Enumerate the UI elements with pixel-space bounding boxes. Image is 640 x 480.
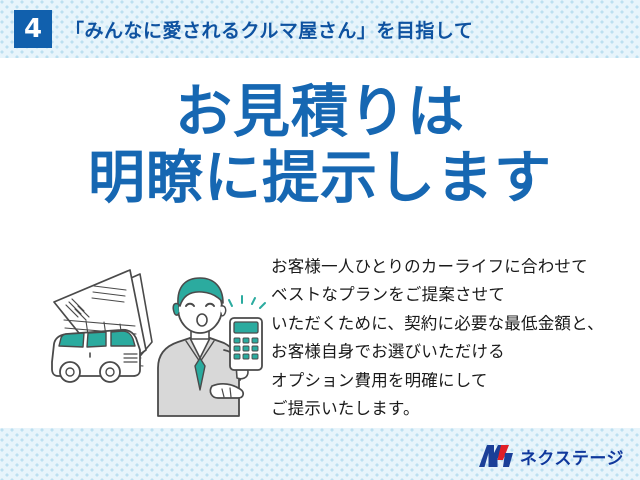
body-line: ベストなプランをご提案させて	[271, 281, 631, 309]
body-line: オプション費用を明確にして	[271, 367, 631, 395]
body-line: いただくために、契約に必要な最低金額と、	[271, 310, 631, 338]
salesman-illustration	[34, 258, 270, 418]
illustration-svg	[34, 258, 270, 418]
headline-line-2: 明瞭に提示します	[0, 148, 640, 208]
calculator-icon	[230, 318, 262, 370]
promo-slide: 4 「みんなに愛されるクルマ屋さん」を目指して お見積りは 明瞭に提示します お…	[0, 0, 640, 480]
sparkle-icon	[229, 296, 265, 308]
van-illustration	[52, 330, 140, 382]
headline: お見積りは 明瞭に提示します	[0, 82, 640, 209]
step-number-badge: 4	[14, 10, 52, 48]
nextage-logo-text: ネクステージ	[520, 444, 624, 469]
body-line: ご提示いたします。	[271, 395, 631, 423]
body-line: お客様自身でお選びいただける	[271, 338, 631, 366]
headline-line-1: お見積りは	[0, 82, 640, 142]
nextage-logo: ネクステージ	[479, 443, 624, 469]
body-copy: お客様一人ひとりのカーライフに合わせて ベストなプランをご提案させて いただくた…	[271, 253, 631, 423]
header: 4 「みんなに愛されるクルマ屋さん」を目指して	[0, 0, 640, 58]
nextage-n-logo-icon	[479, 444, 513, 468]
header-title: 「みんなに愛されるクルマ屋さん」を目指して	[65, 16, 473, 43]
body-line: お客様一人ひとりのカーライフに合わせて	[271, 253, 631, 281]
